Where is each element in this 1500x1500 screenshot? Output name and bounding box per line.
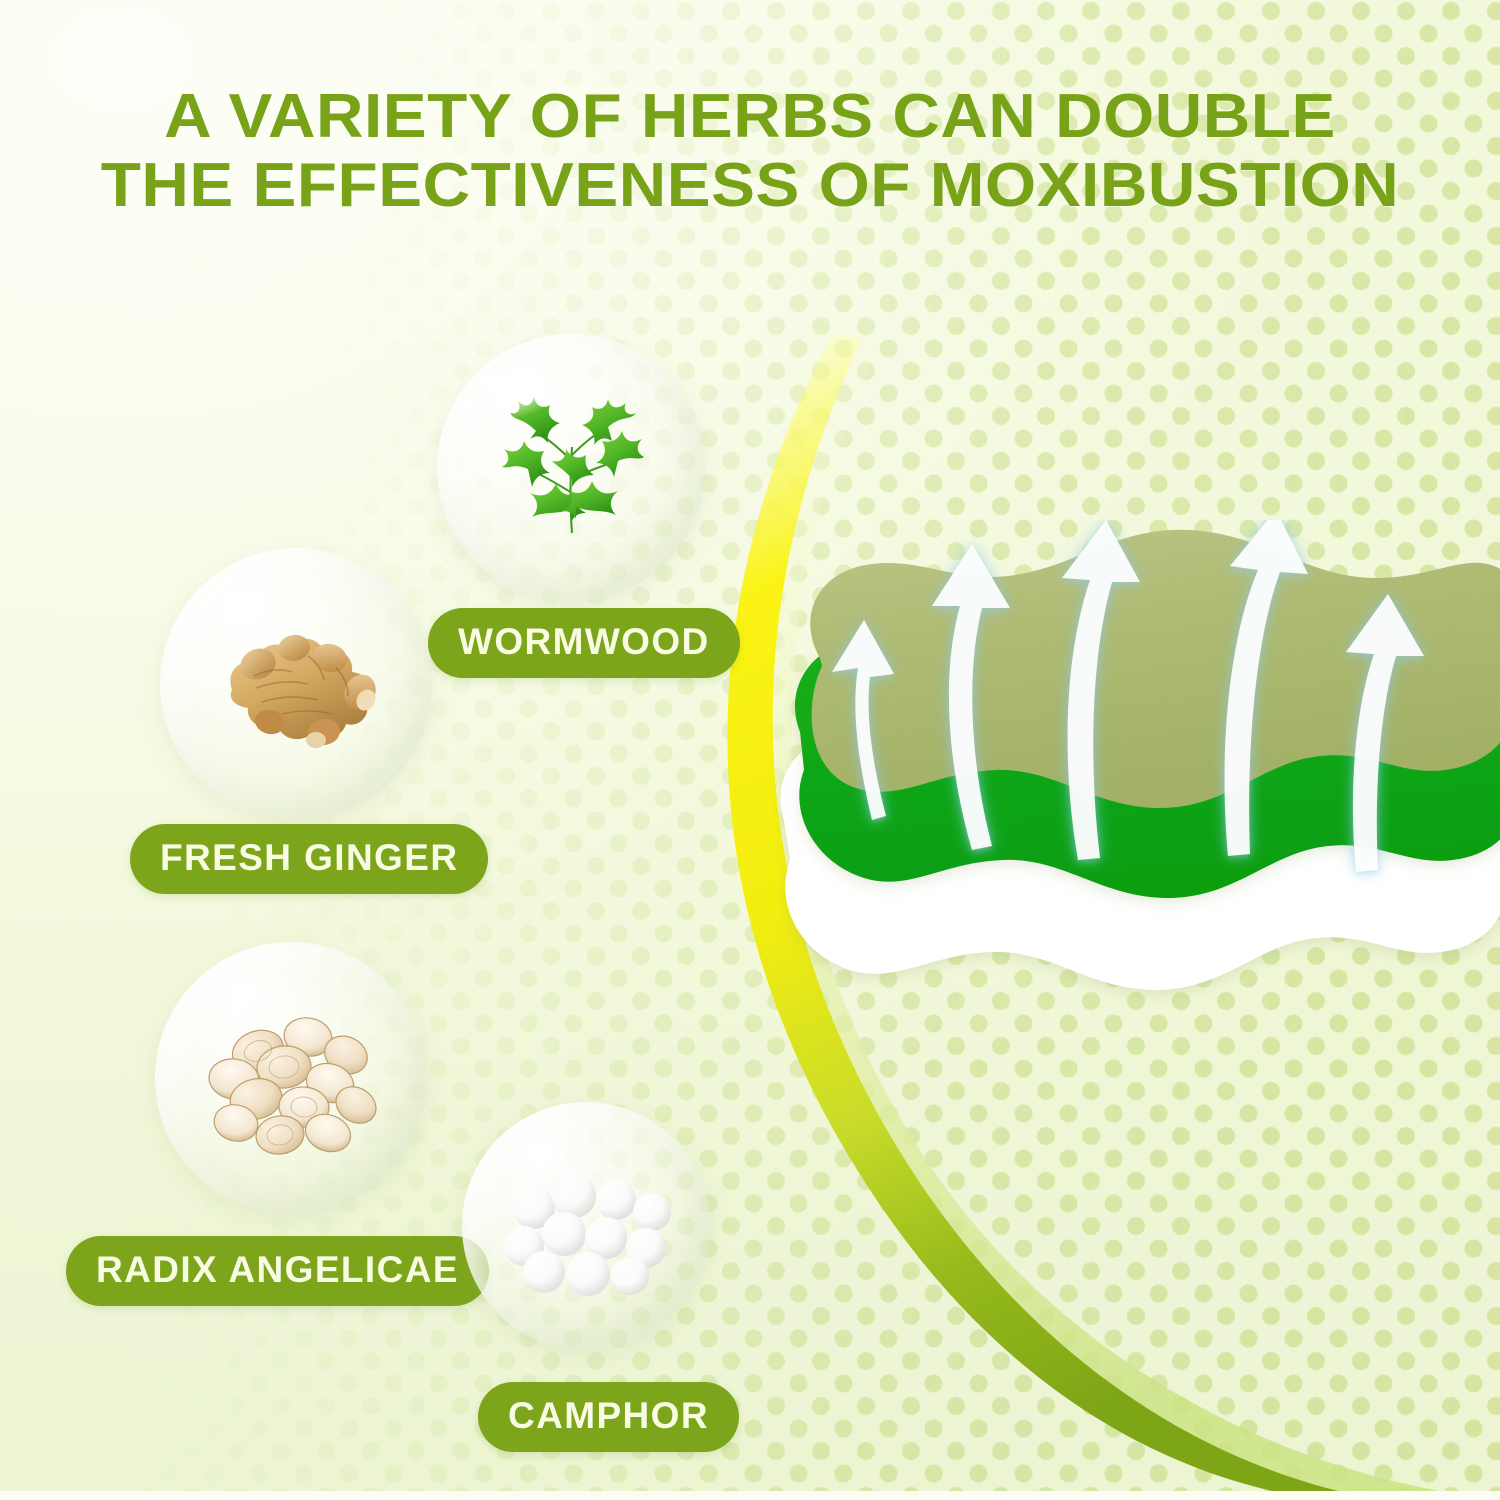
ingredient-bubble-wormwood xyxy=(437,334,705,602)
bottom-edge-strip xyxy=(0,1491,1500,1500)
angelica-root-slices-icon xyxy=(155,942,427,1214)
page-title: A VARIETY OF HERBS CAN DOUBLE THE EFFECT… xyxy=(0,82,1500,221)
infographic-canvas: A VARIETY OF HERBS CAN DOUBLE THE EFFECT… xyxy=(0,0,1500,1500)
pill-label-camphor[interactable]: CAMPHOR xyxy=(478,1382,739,1452)
pill-label-fresh-ginger[interactable]: FRESH GINGER xyxy=(130,824,488,894)
ingredient-bubble-camphor xyxy=(462,1102,710,1350)
pill-label-wormwood[interactable]: WORMWOOD xyxy=(428,608,740,678)
ingredient-bubble-fresh-ginger xyxy=(160,548,432,820)
ginger-root-icon xyxy=(160,548,432,820)
moxibustion-heat-patch xyxy=(760,520,1500,1140)
wormwood-leaf-icon xyxy=(437,334,705,602)
ingredient-bubble-radix-angelicae xyxy=(155,942,427,1214)
pill-label-radix-angelicae[interactable]: RADIX ANGELICAE xyxy=(66,1236,489,1306)
camphor-balls-icon xyxy=(462,1102,710,1350)
